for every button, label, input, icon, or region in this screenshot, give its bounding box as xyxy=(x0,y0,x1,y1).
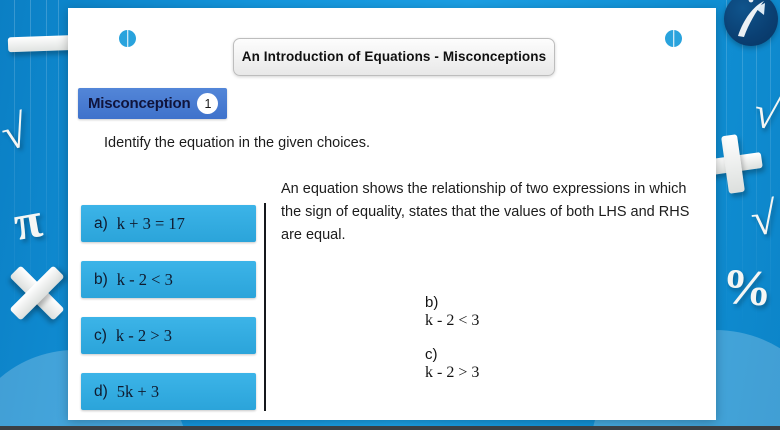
radical-icon: √ xyxy=(0,108,32,159)
multiply-icon xyxy=(6,262,68,324)
option-button-c[interactable]: c) k - 2 > 3 xyxy=(81,317,256,354)
column-divider xyxy=(264,203,266,411)
option-letter: b) xyxy=(94,271,108,289)
answer-echo-letter: c) xyxy=(425,346,438,363)
option-button-d[interactable]: d) 5k + 3 xyxy=(81,373,256,410)
misconception-number: 1 xyxy=(197,93,218,114)
option-expression: k + 3 = 17 xyxy=(117,214,185,234)
answer-echo-c: c) k - 2 > 3 xyxy=(401,328,479,400)
option-expression: k - 2 < 3 xyxy=(117,270,173,290)
slide-title: An Introduction of Equations - Misconcep… xyxy=(233,38,555,76)
radical-icon-right: √ xyxy=(750,90,780,138)
radical-icon-right-2: √ xyxy=(748,195,778,243)
bottom-strip xyxy=(0,426,780,430)
misconception-label: Misconception xyxy=(88,95,190,112)
question-prompt: Identify the equation in the given choic… xyxy=(104,135,370,151)
option-expression: k - 2 > 3 xyxy=(116,326,172,346)
slide-card: An Introduction of Equations - Misconcep… xyxy=(68,8,716,420)
answer-echo-expression: k - 2 > 3 xyxy=(425,364,479,381)
slide-stage: √ π √ √ % An Introduction of Equations -… xyxy=(0,0,780,430)
pin-marker-right xyxy=(665,30,682,47)
explanation-text: An equation shows the relationship of tw… xyxy=(281,178,706,247)
percent-icon: % xyxy=(720,260,773,313)
option-expression: 5k + 3 xyxy=(117,382,159,402)
options-list: a) k + 3 = 17 b) k - 2 < 3 c) k - 2 > 3 … xyxy=(81,205,256,429)
option-letter: d) xyxy=(94,383,108,401)
answer-echo-letter: b) xyxy=(425,294,438,311)
pi-icon: π xyxy=(10,194,46,248)
misconception-badge: Misconception 1 xyxy=(78,88,227,119)
pin-marker-left xyxy=(119,30,136,47)
option-letter: c) xyxy=(94,327,107,345)
option-button-a[interactable]: a) k + 3 = 17 xyxy=(81,205,256,242)
option-letter: a) xyxy=(94,215,108,233)
option-button-b[interactable]: b) k - 2 < 3 xyxy=(81,261,256,298)
answer-echo-expression: k - 2 < 3 xyxy=(425,312,479,329)
brand-logo-icon xyxy=(724,0,778,46)
